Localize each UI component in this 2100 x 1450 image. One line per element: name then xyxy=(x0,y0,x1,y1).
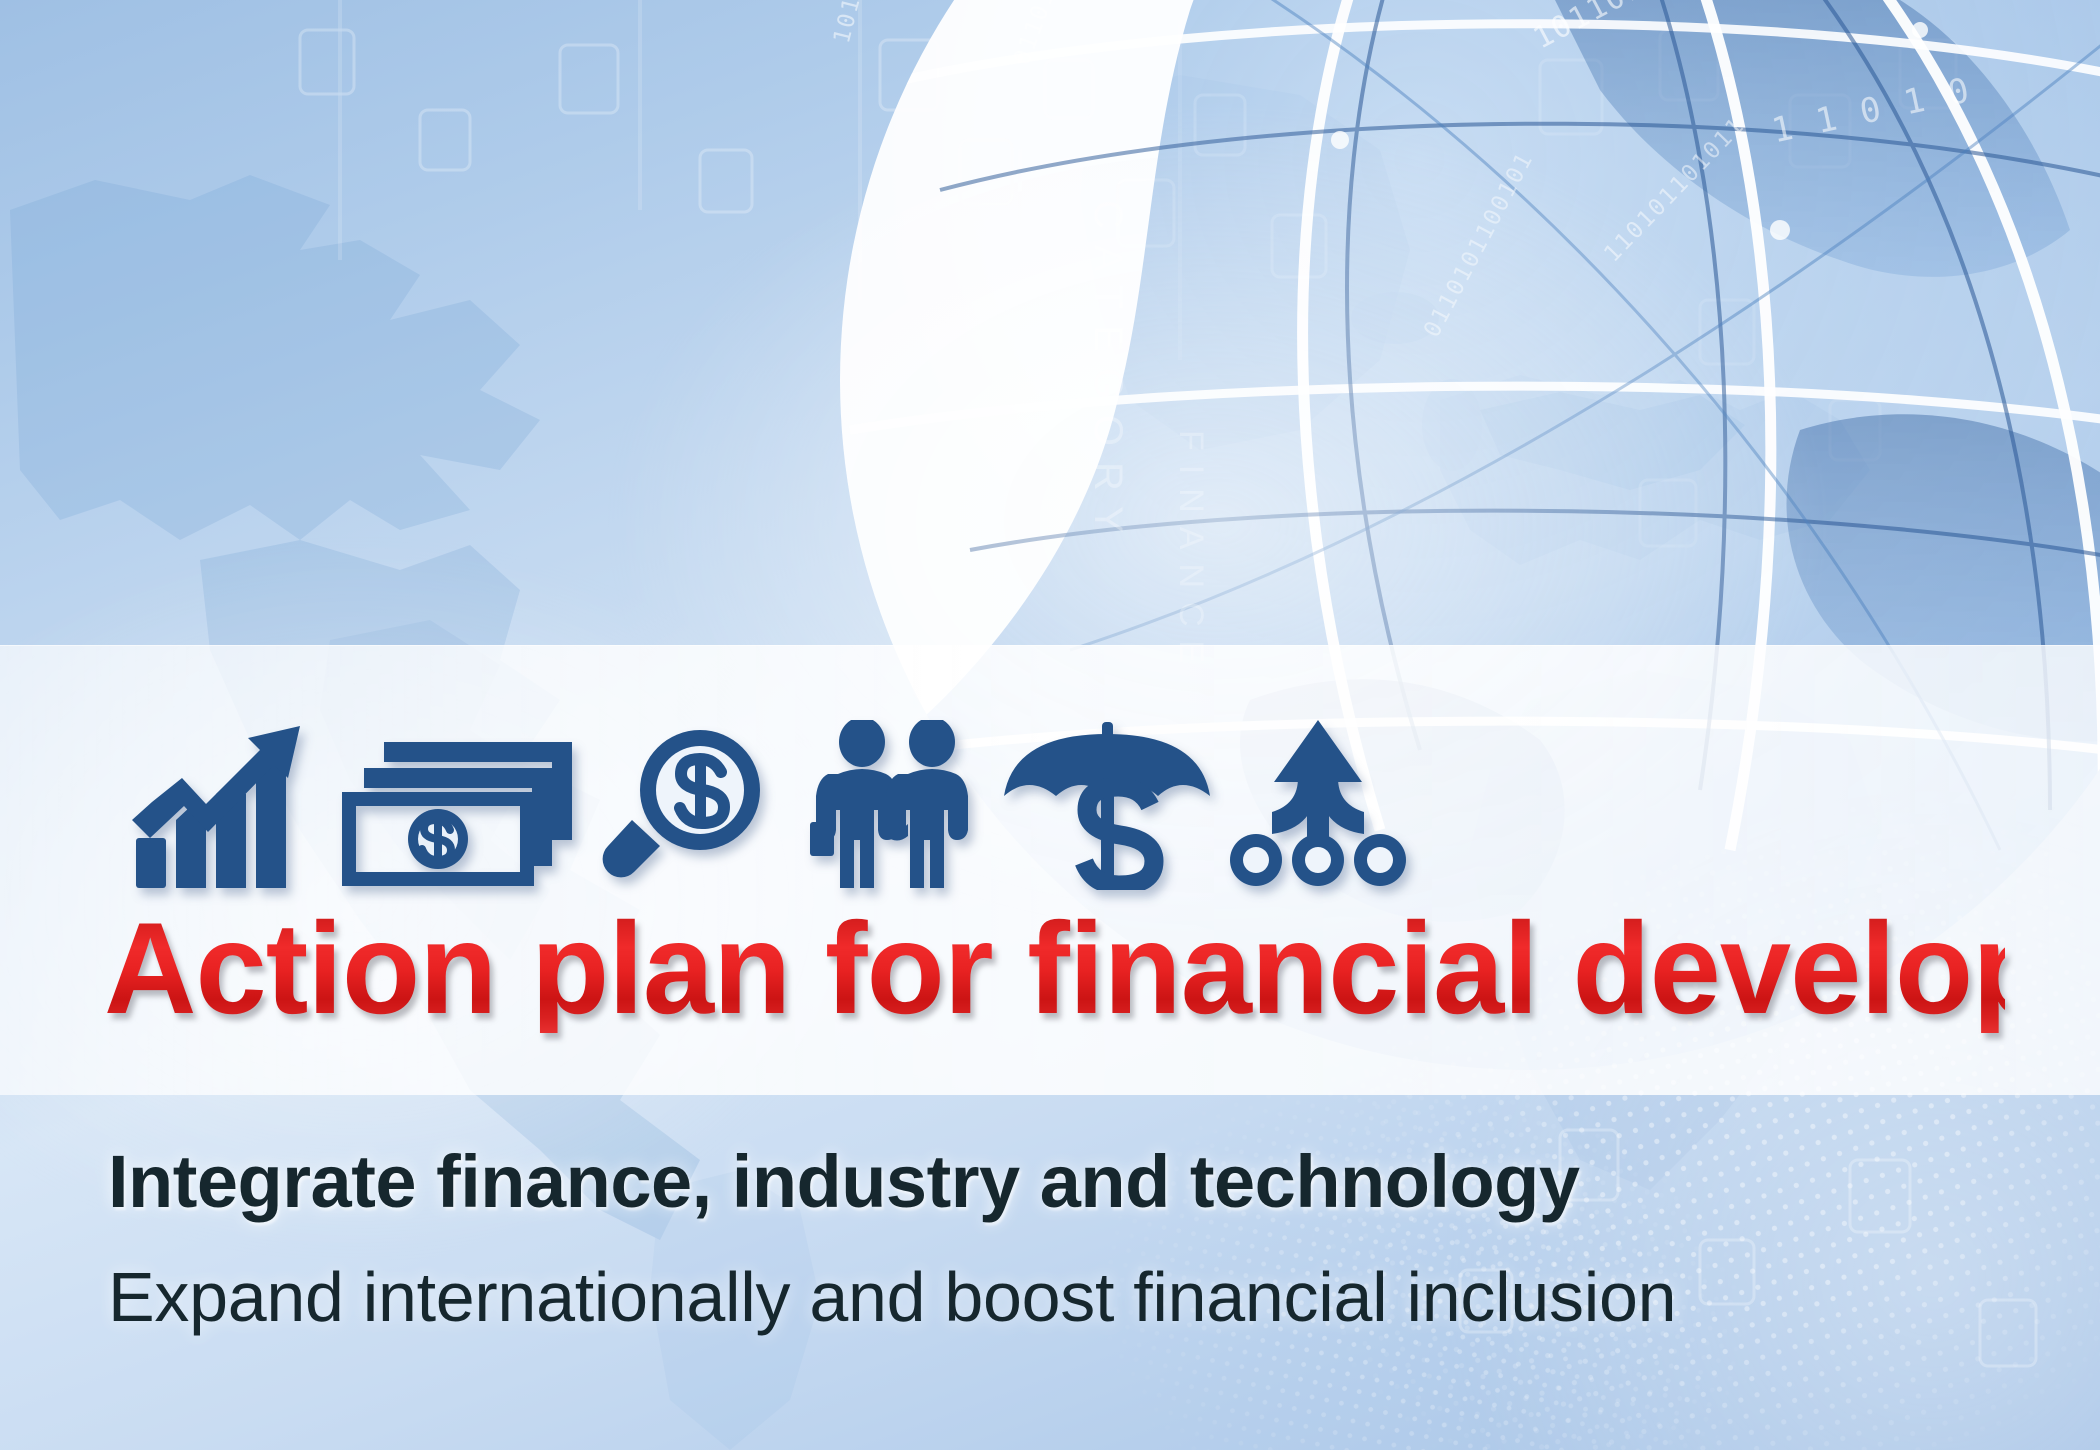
umbrella-dollar-icon xyxy=(998,720,1218,890)
ghost-text-finance: FINANCE xyxy=(1171,430,1210,677)
ghost-text-category: CATEGORY xyxy=(1085,200,1130,549)
icon-row xyxy=(128,710,1608,890)
subtitle-primary: Integrate finance, industry and technolo… xyxy=(108,1145,1580,1219)
growth-chart-icon xyxy=(128,720,328,890)
page-title: Action plan for financial development xyxy=(104,903,2005,1033)
financial-development-banner: 1010110100101101 011010110010110 1011010… xyxy=(0,0,2100,1450)
subtitle-secondary: Expand internationally and boost financi… xyxy=(108,1262,1676,1332)
banknotes-icon xyxy=(328,720,588,890)
two-people-icon xyxy=(798,720,998,890)
merge-arrow-icon xyxy=(1218,720,1418,890)
magnifier-dollar-icon xyxy=(588,720,798,890)
